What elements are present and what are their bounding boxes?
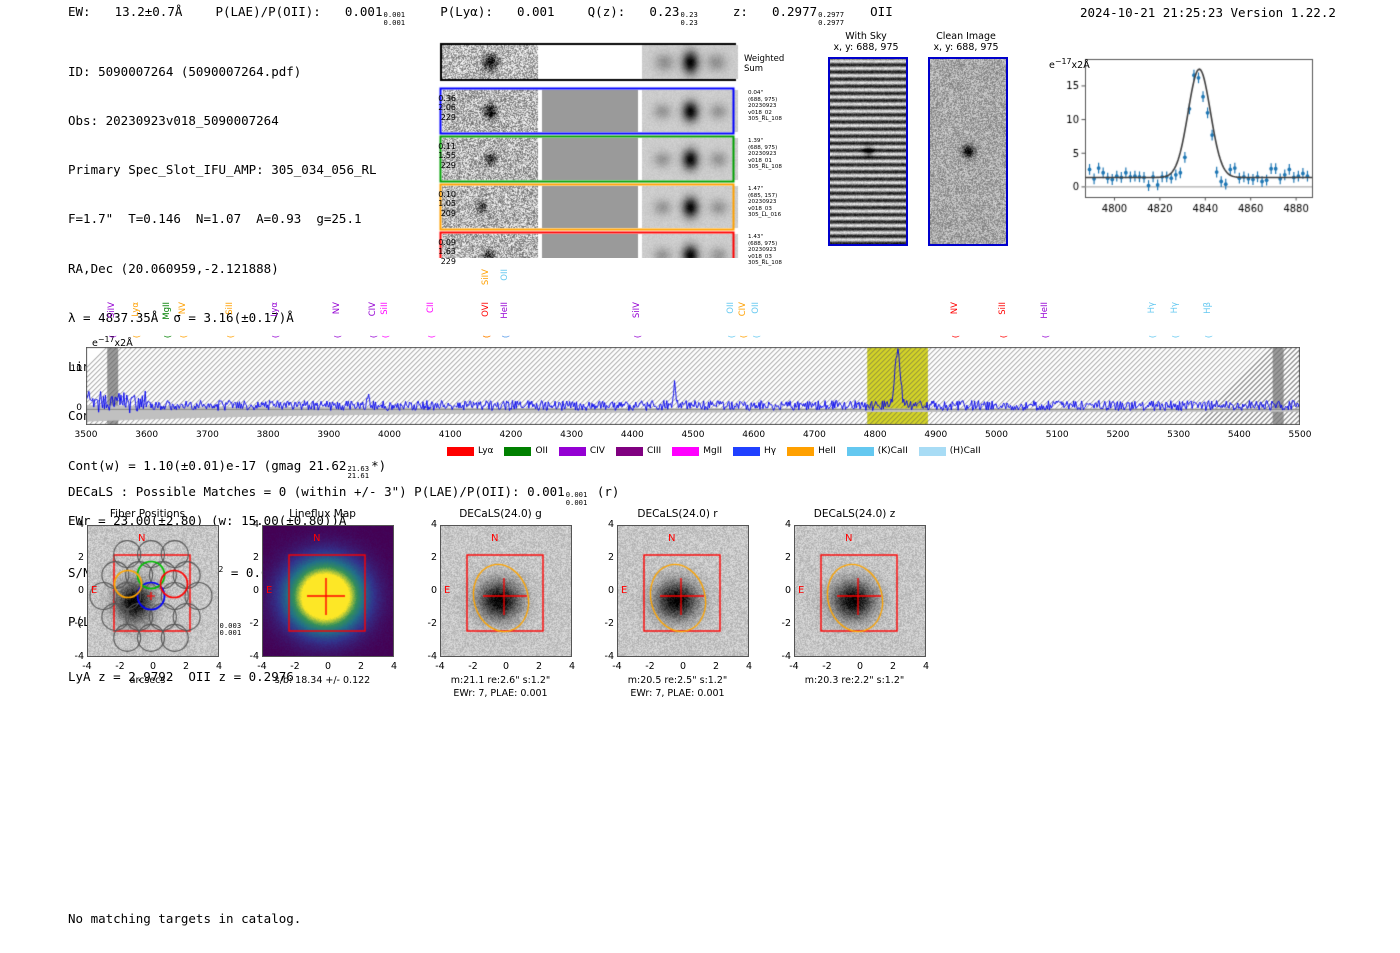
emission-line-label: NV [332,302,342,314]
cutout-ytick: 0 [60,585,84,596]
emission-line-label: Hγ [1170,302,1180,313]
legend-swatch [447,447,474,456]
north-marker: N [668,533,675,544]
spectrum-ytick: 0 [60,403,82,413]
cutout-ytick: -2 [413,618,437,629]
cutout-xtick: 2 [704,661,728,672]
cutout-image[interactable] [87,525,219,657]
legend-item: Lyα [447,446,493,456]
emission-line-tick: ( [427,335,436,338]
emission-line-tick: ( [163,335,172,338]
cutout-xtick: -4 [250,661,274,672]
spectrum-legend: LyαOIICIVCIIIMgIIHγHeII(K)CaII(H)CaII [447,446,990,456]
cutout-ytick: 4 [413,519,437,530]
cutout-xtick: 2 [881,661,905,672]
cutout-caption-1: m:20.5 re:2.5" s:1.2" [590,675,765,687]
emission-line-tick: ( [179,335,188,338]
cutout-ytick: 0 [235,585,259,596]
decals-header-post: (r) [597,484,620,499]
cutout-title: DECaLS(24.0) r [590,508,765,520]
emission-line-tick: ( [226,335,235,338]
spectrum-xtick: 5300 [1159,430,1199,440]
cutout-image[interactable] [794,525,926,657]
decals-header-lo: 0.001 [566,499,588,506]
legend-swatch [787,447,814,456]
emission-line-tick: ( [1171,335,1180,338]
cutout-xtick: 0 [494,661,518,672]
cutout-ytick: -2 [767,618,791,629]
emission-line-label: OVI [481,302,491,317]
emission-line-label: OII [751,302,761,314]
cutout-canvas [795,526,925,656]
cutout-xtick: 4 [207,661,231,672]
emission-line-label: SiII [380,302,390,315]
spectrum-xtick: 5400 [1219,430,1259,440]
cutout-xtick: -2 [638,661,662,672]
emission-line-tick: ( [752,335,761,338]
emission-line-label: OII [726,302,736,314]
spectrum-xtick: 4800 [855,430,895,440]
east-marker: E [444,585,450,596]
cutout-xtick: -4 [605,661,629,672]
legend-swatch [559,447,586,456]
decals-header: DECaLS : Possible Matches = 0 (within +/… [68,484,619,506]
emission-line-tick: ( [1041,335,1050,338]
legend-label: CIII [647,446,661,456]
legend-label: CIV [590,446,605,456]
spectrum-xtick: 5500 [1280,430,1320,440]
cutout-title: DECaLS(24.0) z [767,508,942,520]
spectrum-xtick: 4900 [916,430,956,440]
cutout-xtick: -4 [428,661,452,672]
cutout-caption-1: m:20.3 re:2.2" s:1.2" [767,675,942,687]
cutout-caption-2: EWr: 7, PLAE: 0.001 [413,688,588,700]
footer-notes: No matching targets in catalog. Row inte… [68,876,301,953]
east-marker: E [266,585,272,596]
decals-header-pre: DECaLS : Possible Matches = 0 (within +/… [68,484,565,499]
emission-line-label: Lyα [131,302,141,317]
emission-line-tick: ( [951,335,960,338]
north-marker: N [313,533,320,544]
cutout-xtick: -2 [108,661,132,672]
legend-item: HeII [787,446,836,456]
emission-line-tick: ( [1148,335,1157,338]
emission-line-label: MgII [162,302,172,320]
emission-line-label: CIV [738,302,748,316]
cutout-image[interactable] [440,525,572,657]
spectrum-xtick: 5200 [1098,430,1138,440]
spectrum-xtick: 4600 [734,430,774,440]
emission-line-label: NV [178,302,188,314]
emission-line-tick: ( [369,335,378,338]
cutout-ytick: -2 [60,618,84,629]
cutout-xtick: 4 [737,661,761,672]
cutout-title: DECaLS(24.0) g [413,508,588,520]
spectrum-xtick: 3700 [187,430,227,440]
spectrum-xtick: 3600 [127,430,167,440]
emission-line-label: NV [950,302,960,314]
north-marker: N [491,533,498,544]
cutout-title: Lineflux Map [235,508,410,520]
cutout-ytick: 2 [590,552,614,563]
cutout-canvas [88,526,218,656]
legend-swatch [847,447,874,456]
emission-line-tick: ( [132,335,141,338]
cutout-xtick: 0 [141,661,165,672]
emission-line-tick: ( [633,335,642,338]
cutout-ytick: -2 [590,618,614,629]
spectrum-xtick: 5000 [977,430,1017,440]
cutout-xlabel: arcsecs [60,675,235,687]
cutout-caption-1: m:21.1 re:2.6" s:1.2" [413,675,588,687]
emission-line-label: SiII [998,302,1008,315]
cutout-canvas [263,526,393,656]
spectrum-xtick: 3900 [309,430,349,440]
emission-line-label: SiII [225,302,235,315]
legend-item: (K)CaII [847,446,908,456]
emission-line-tick: ( [108,335,117,338]
spectrum-xtick: 4200 [491,430,531,440]
legend-swatch [616,447,643,456]
spectrum-xtick: 4400 [612,430,652,440]
emission-line-label: CIV [368,302,378,316]
cutout-canvas [441,526,571,656]
emission-line-tick: ( [333,335,342,338]
full-spectrum-overlay: e−17x2Å350036003700380039004000410042004… [0,0,1400,953]
cutout-ytick: 0 [590,585,614,596]
legend-label: Lyα [478,446,493,456]
footer-line-1: No matching targets in catalog. [68,910,301,927]
cutout-xtick: -4 [782,661,806,672]
legend-label: MgII [703,446,722,456]
spectrum-xtick: 3800 [248,430,288,440]
legend-item: CIII [616,446,661,456]
cutout-xtick: 0 [316,661,340,672]
emission-line-label: CII [426,302,436,313]
emission-line-label: OII [500,269,510,281]
emission-line-label: SiIV [632,302,642,318]
emission-line-tick: ( [999,335,1008,338]
legend-label: Hγ [764,446,776,456]
cutout-ytick: 4 [767,519,791,530]
cutout-xtick: 4 [914,661,938,672]
emission-line-tick: ( [727,335,736,338]
emission-line-label: HeII [500,302,510,319]
spectrum-xtick: 4500 [673,430,713,440]
cutout-xtick: 0 [671,661,695,672]
east-marker: E [798,585,804,596]
cutout-xtick: 4 [382,661,406,672]
legend-swatch [672,447,699,456]
cutout-caption-1: s/b: 18.34 +/- 0.122 [235,675,410,687]
spectrum-xtick: 4000 [370,430,410,440]
legend-swatch [504,447,531,456]
cutout-xtick: 0 [848,661,872,672]
north-marker: N [845,533,852,544]
cutout-ytick: 0 [413,585,437,596]
cutout-canvas [618,526,748,656]
cutout-xtick: 2 [527,661,551,672]
emission-line-tick: ( [739,335,748,338]
cutout-ytick: 2 [767,552,791,563]
spectrum-ytick: 10 [60,364,82,374]
cutout-ytick: 2 [413,552,437,563]
cutout-xtick: -2 [815,661,839,672]
legend-item: MgII [672,446,722,456]
north-marker: N [138,533,145,544]
east-marker: E [621,585,627,596]
legend-swatch [919,447,946,456]
emission-line-label: HeII [1040,302,1050,319]
spectrum-xtick: 4700 [794,430,834,440]
legend-label: (H)CaII [950,446,981,456]
cutout-xtick: -2 [283,661,307,672]
emission-line-tick: ( [381,335,390,338]
cutout-xtick: -4 [75,661,99,672]
emission-line-label: Hγ [1147,302,1157,313]
cutout-ytick: 2 [235,552,259,563]
spectrum-xtick: 4100 [430,430,470,440]
legend-label: HeII [818,446,836,456]
legend-label: (K)CaII [878,446,908,456]
emission-line-label: Hβ [1203,302,1213,314]
cutout-ytick: 0 [767,585,791,596]
cutout-ytick: -2 [235,618,259,629]
cutout-image[interactable] [262,525,394,657]
legend-swatch [733,447,760,456]
emission-line-label: SiIV [481,269,491,285]
spectrum-xtick: 5100 [1037,430,1077,440]
cutout-caption-2: EWr: 7, PLAE: 0.001 [590,688,765,700]
emission-line-tick: ( [1204,335,1213,338]
emission-line-tick: ( [271,335,280,338]
cutout-ytick: 2 [60,552,84,563]
east-marker: E [91,585,97,596]
spectrum-xtick: 4300 [552,430,592,440]
legend-item: (H)CaII [919,446,981,456]
legend-label: OII [535,446,547,456]
cutout-xtick: -2 [461,661,485,672]
cutout-xtick: 2 [349,661,373,672]
elixer-report-page: EW: 13.2±0.7Å P(LAE)/P(OII): 0.0010.0010… [0,0,1400,953]
spectrum-xtick: 3500 [66,430,106,440]
cutout-image[interactable] [617,525,749,657]
emission-line-label: SiIV [107,302,117,318]
cutout-ytick: 4 [235,519,259,530]
cutout-ytick: 4 [590,519,614,530]
legend-item: OII [504,446,547,456]
emission-line-tick: ( [482,335,491,338]
legend-item: CIV [559,446,605,456]
cutout-title: Fiber Positions [60,508,235,520]
emission-line-tick: ( [501,335,510,338]
legend-item: Hγ [733,446,776,456]
cutout-xtick: 4 [560,661,584,672]
emission-line-label: Lyα [270,302,280,317]
cutout-ytick: 4 [60,519,84,530]
cutout-xtick: 2 [174,661,198,672]
